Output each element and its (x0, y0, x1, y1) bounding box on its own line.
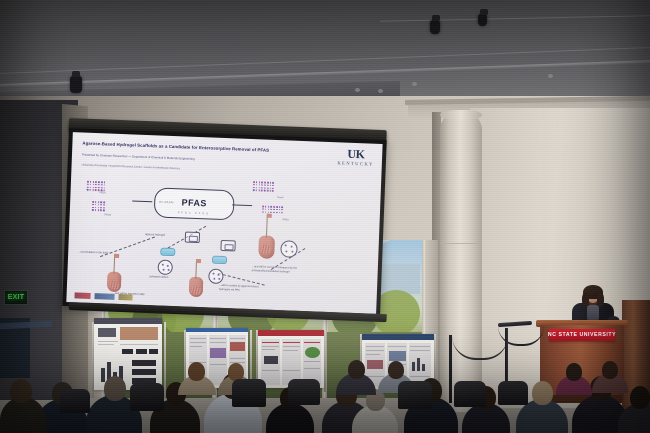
poster-text-line (283, 350, 298, 351)
poster-figure (230, 342, 245, 351)
poster-header (362, 334, 434, 340)
ceiling-line (380, 15, 650, 22)
poster-figure (132, 369, 156, 375)
projector-screen: Agarose-Based Hydrogel Scaffolds as a Ca… (62, 128, 387, 318)
poster-text-line (366, 354, 380, 355)
uk-logo-secondary: KENTUCKY (337, 160, 374, 166)
molecule-cluster (92, 201, 105, 212)
hydrogel-capsule-icon (212, 256, 227, 264)
arrow-into-box (132, 200, 152, 202)
poster-text-line (262, 346, 279, 347)
digestive-organ-illustration (189, 277, 204, 298)
poster-figure (149, 349, 158, 354)
poster-header (94, 318, 162, 324)
poster-board (94, 318, 162, 390)
poster-figure (98, 328, 116, 337)
audience-head (348, 360, 365, 379)
poster-text-line (366, 350, 384, 351)
poster-text-line (98, 341, 118, 342)
molecule-label: GenX (260, 195, 300, 200)
exit-sign: EXIT (4, 290, 28, 305)
chair (454, 381, 486, 407)
easel-leg (324, 330, 326, 392)
ceiling-light-fixture (412, 82, 417, 86)
nsf-logo (94, 293, 114, 300)
podium-sign-label: NC STATE UNIVERSITY (548, 332, 616, 338)
speaker-hair (597, 293, 604, 307)
ceiling-light-fixture (548, 74, 553, 78)
chair (232, 379, 266, 407)
poster-text-line (210, 364, 226, 365)
molecule-structure-icon (220, 240, 235, 252)
university-of-kentucky-logo: UK KENTUCKY (337, 148, 374, 166)
uk-logo-primary: UK (338, 148, 375, 160)
track-light-icon (430, 20, 440, 34)
molecule-label: PFBS (266, 218, 306, 223)
chair (398, 381, 432, 409)
audience-head (104, 376, 126, 401)
molecule-cluster (262, 205, 283, 213)
slide-annotation: activated carbon (149, 275, 187, 280)
audience-head (10, 379, 32, 403)
poster-chart-bar (417, 358, 420, 371)
poster-text-line (410, 350, 430, 351)
presentation-slide: Agarose-Based Hydrogel Scaffolds as a Ca… (66, 132, 382, 314)
podium-sign: NC STATE UNIVERSITY (549, 329, 615, 341)
poster-text-line (210, 342, 226, 343)
slide-note: ...will be sorbed by agarose-based hydro… (219, 284, 263, 293)
poster-figure (122, 349, 133, 354)
poster-text-line (262, 342, 279, 343)
ceiling-line (0, 47, 650, 74)
molecule-structure-icon (185, 232, 200, 244)
poster-text-line (230, 358, 245, 359)
poster-figure (305, 347, 320, 358)
niehs-logo (118, 294, 132, 301)
audience-head (566, 363, 582, 381)
digestive-organ-illustration (107, 272, 122, 293)
ceiling-light-fixture (378, 89, 383, 93)
poster-text-line (304, 361, 320, 362)
exit-sign-label: EXIT (8, 294, 25, 301)
flag-marker (114, 254, 119, 258)
molecule-cluster (253, 181, 275, 192)
slide-footer-logos (74, 292, 132, 300)
digestive-organ-illustration (258, 235, 275, 259)
hydrogel-capsule-icon (160, 248, 175, 256)
poster-header (258, 330, 324, 336)
poster-chart-bar (412, 362, 415, 371)
flag-marker (267, 214, 272, 218)
arrow-out-of-box (232, 204, 252, 206)
uk-superfund-logo (74, 292, 90, 299)
poster-figure (136, 349, 147, 354)
poster-text-line (283, 370, 300, 371)
activated-carbon-bead-icon (208, 268, 224, 284)
poster-text-line (410, 376, 430, 377)
slide-title: Agarose-Based Hydrogel Scaffolds as a Ca… (82, 141, 302, 155)
poster-text-line (190, 346, 202, 347)
poster-header (186, 328, 248, 332)
audience-head (388, 361, 404, 379)
easel-leg (164, 322, 166, 398)
poster-text-line (366, 346, 384, 347)
poster-chart-bar (101, 368, 105, 382)
poster-figure (264, 356, 278, 364)
poster-figure (210, 348, 226, 358)
flag-marker (196, 259, 201, 263)
slide-authors: Presented by Graduate Researcher — Depar… (82, 153, 282, 165)
poster-chart-bar (422, 364, 425, 371)
poster-text-line (304, 342, 320, 343)
poster-text-line (190, 338, 206, 339)
audience-head (532, 381, 553, 405)
poster-text-line (262, 349, 275, 350)
presentation-scene: EXIT Agarose-Based Hydrogel Scaffolds as (0, 0, 650, 433)
pfas-label: PFAS (155, 196, 233, 209)
column-cap (440, 110, 482, 120)
poster-text-line (230, 338, 245, 339)
speaker-hair (582, 293, 589, 307)
poster-text-line (210, 338, 226, 339)
slide-affiliation: University of Kentucky • Superfund Resea… (81, 164, 291, 176)
poster-figure (132, 360, 156, 366)
chair (60, 389, 90, 413)
poster-text-line (388, 346, 406, 347)
poster-text-line (190, 342, 206, 343)
column-seam (440, 243, 482, 244)
molecule-label: PFOA (82, 191, 122, 196)
chair (498, 381, 528, 405)
ceiling-light-fixture (355, 88, 360, 92)
slide-note: ...and will be excreted entrapped by the… (252, 265, 300, 274)
poster-text-line (262, 370, 279, 371)
pfas-sub-label: PFOA PFOS (155, 210, 233, 216)
poster-figure (389, 351, 406, 361)
poster-figure (367, 360, 383, 369)
audience-head (630, 386, 650, 409)
slide-note: ...accumulates in the body (78, 250, 112, 255)
poster-text-line (98, 344, 114, 345)
speaker-shirt (587, 305, 599, 321)
activated-carbon-bead-icon (157, 260, 173, 276)
pfas-concept-box: per- and poly- PFAS PFOA PFOS (154, 187, 235, 220)
track-light-icon (70, 76, 82, 93)
poster-text-line (304, 368, 320, 369)
stanchion-post (449, 335, 452, 403)
poster-figure (120, 327, 158, 340)
audience-head (602, 361, 618, 379)
audience-head (188, 362, 205, 381)
poster-text-line (120, 344, 158, 345)
chair (130, 383, 164, 411)
poster-text-line (283, 346, 300, 347)
track-light-icon (478, 14, 487, 26)
poster-text-line (410, 346, 430, 347)
chair (288, 379, 320, 405)
molecule-label: PFOS (88, 213, 128, 218)
structural-column (440, 112, 482, 412)
poster-text-line (283, 342, 300, 343)
